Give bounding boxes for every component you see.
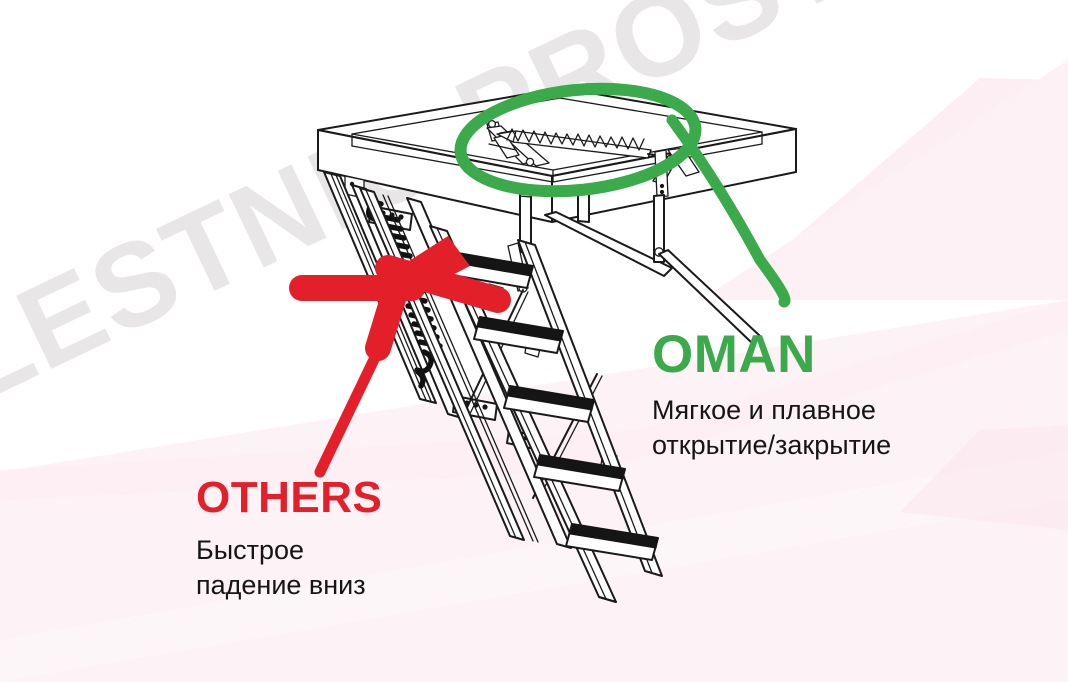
oman-description: Мягкое и плавное открытие/закрытие xyxy=(652,393,891,462)
attic-ladder-illustration: .ln { fill:none; stroke:#1a1a1a; stroke-… xyxy=(0,0,1068,682)
others-title: OTHERS xyxy=(196,476,382,520)
oman-title: OMAN xyxy=(652,328,891,381)
oman-description-line-2: открытие/закрытие xyxy=(652,428,891,463)
oman-callout: OMAN Мягкое и плавное открытие/закрытие xyxy=(652,328,891,462)
others-callout: OTHERS Быстрое падение вниз xyxy=(196,476,382,602)
promo-graphic: LESTNIC-PROSTO.RU .ln { fill:none; strok… xyxy=(0,0,1068,682)
others-description: Быстрое падение вниз xyxy=(196,533,382,602)
others-description-line-1: Быстрое xyxy=(196,533,382,568)
others-description-line-2: падение вниз xyxy=(196,568,382,603)
oman-description-line-1: Мягкое и плавное xyxy=(652,393,891,428)
